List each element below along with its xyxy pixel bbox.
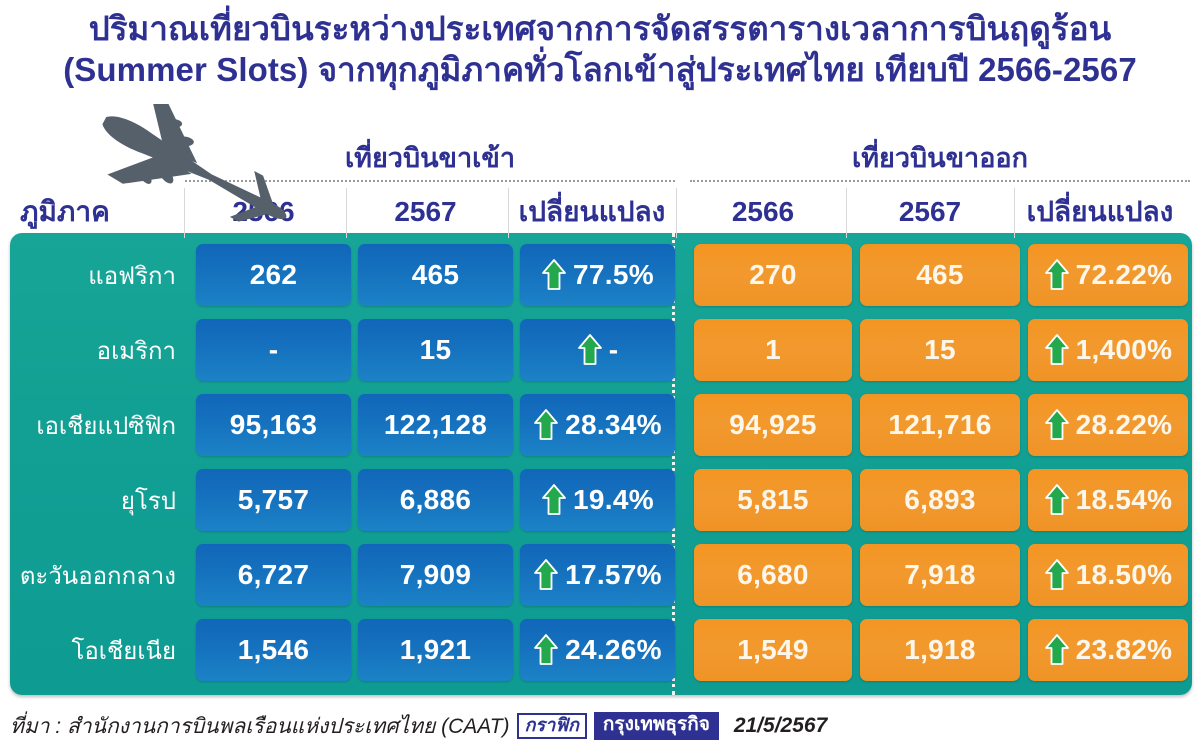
inbound-change-value: - — [609, 334, 619, 366]
cell-inbound-2567: 6,886 — [358, 469, 513, 531]
graphic-credit-label: กราฟิก — [517, 713, 587, 740]
region-label: ตะวันออกกลาง — [10, 540, 186, 610]
title-line-1: ปริมาณเที่ยวบินระหว่างประเทศจากการจัดสรร… — [0, 8, 1200, 49]
outbound-change-value: 1,400% — [1076, 334, 1173, 366]
cell-inbound-2566: 95,163 — [196, 394, 351, 456]
table-row: เอเชียแปซิฟิก95,163122,12828.34%94,92512… — [10, 390, 1192, 460]
arrow-up-icon — [533, 408, 559, 442]
cell-inbound-2567: 465 — [358, 244, 513, 306]
cell-outbound-change: 72.22% — [1028, 244, 1188, 306]
cell-inbound-2567: 7,909 — [358, 544, 513, 606]
page-title: ปริมาณเที่ยวบินระหว่างประเทศจากการจัดสรร… — [0, 8, 1200, 91]
cell-inbound-change: 28.34% — [520, 394, 675, 456]
cell-outbound-2566: 5,815 — [694, 469, 852, 531]
cell-inbound-change: 24.26% — [520, 619, 675, 681]
table-row: ยุโรป5,7576,88619.4%5,8156,89318.54% — [10, 465, 1192, 535]
cell-outbound-2567: 121,716 — [860, 394, 1020, 456]
cell-outbound-2566: 94,925 — [694, 394, 852, 456]
header-vline-5 — [846, 188, 847, 238]
arrow-up-icon — [1044, 333, 1070, 367]
region-label: โอเชียเนีย — [10, 615, 186, 685]
arrow-up-icon — [1044, 258, 1070, 292]
outbound-change-value: 23.82% — [1076, 634, 1173, 666]
arrow-up-icon — [577, 333, 603, 367]
cell-outbound-2566: 1,549 — [694, 619, 852, 681]
cell-outbound-2566: 1 — [694, 319, 852, 381]
column-header-outbound-change: เปลี่ยนแปลง — [1014, 190, 1186, 234]
arrow-up-icon — [533, 633, 559, 667]
inbound-change-value: 77.5% — [573, 259, 654, 291]
column-header-inbound-2566: 2566 — [186, 190, 341, 234]
arrow-up-icon — [1044, 483, 1070, 517]
source-text: ที่มา : สำนักงานการบินพลเรือนแห่งประเทศไ… — [10, 710, 510, 743]
header-divider-outbound — [690, 180, 1190, 182]
cell-outbound-change: 1,400% — [1028, 319, 1188, 381]
cell-inbound-change: 19.4% — [520, 469, 675, 531]
arrow-up-icon — [533, 558, 559, 592]
cell-outbound-change: 18.50% — [1028, 544, 1188, 606]
cell-inbound-2566: - — [196, 319, 351, 381]
arrow-up-icon — [1044, 558, 1070, 592]
cell-outbound-2567: 465 — [860, 244, 1020, 306]
cell-outbound-2567: 15 — [860, 319, 1020, 381]
cell-inbound-2566: 262 — [196, 244, 351, 306]
table-header: เที่ยวบินขาเข้า เที่ยวบินขาออก ภูมิภาค 2… — [0, 130, 1200, 234]
cell-outbound-2567: 1,918 — [860, 619, 1020, 681]
cell-outbound-change: 18.54% — [1028, 469, 1188, 531]
outbound-change-value: 28.22% — [1076, 409, 1173, 441]
cell-outbound-change: 28.22% — [1028, 394, 1188, 456]
region-label: เอเชียแปซิฟิก — [10, 390, 186, 460]
header-vline-4 — [676, 188, 677, 238]
outbound-change-value: 18.54% — [1076, 484, 1173, 516]
header-divider-inbound — [185, 180, 675, 182]
header-vline-2 — [346, 188, 347, 238]
cell-outbound-change: 23.82% — [1028, 619, 1188, 681]
group-header-outbound: เที่ยวบินขาออก — [690, 136, 1190, 179]
region-label: อเมริกา — [10, 315, 186, 385]
table-row: โอเชียเนีย1,5461,92124.26%1,5491,91823.8… — [10, 615, 1192, 685]
region-label: แอฟริกา — [10, 240, 186, 310]
outbound-change-value: 18.50% — [1076, 559, 1173, 591]
cell-outbound-2566: 270 — [694, 244, 852, 306]
column-header-outbound-2566: 2566 — [684, 190, 842, 234]
cell-inbound-2566: 1,546 — [196, 619, 351, 681]
inbound-change-value: 28.34% — [565, 409, 662, 441]
cell-inbound-2566: 5,757 — [196, 469, 351, 531]
table-row: อเมริกา-15-1151,400% — [10, 315, 1192, 385]
cell-inbound-change: - — [520, 319, 675, 381]
cell-inbound-2567: 122,128 — [358, 394, 513, 456]
cell-inbound-change: 17.57% — [520, 544, 675, 606]
table-row: ตะวันออกกลาง6,7277,90917.57%6,6807,91818… — [10, 540, 1192, 610]
outbound-change-value: 72.22% — [1076, 259, 1173, 291]
cell-outbound-2567: 6,893 — [860, 469, 1020, 531]
inbound-change-value: 19.4% — [573, 484, 654, 516]
column-header-inbound-change: เปลี่ยนแปลง — [508, 190, 676, 234]
cell-inbound-2567: 15 — [358, 319, 513, 381]
table-row: แอฟริกา26246577.5%27046572.22% — [10, 240, 1192, 310]
cell-outbound-2566: 6,680 — [694, 544, 852, 606]
title-line-2: (Summer Slots) จากทุกภูมิภาคทั่วโลกเข้าส… — [0, 49, 1200, 90]
inbound-change-value: 17.57% — [565, 559, 662, 591]
column-header-outbound-2567: 2567 — [850, 190, 1010, 234]
footer: ที่มา : สำนักงานการบินพลเรือนแห่งประเทศไ… — [10, 706, 1190, 746]
publish-date: 21/5/2567 — [734, 714, 827, 738]
region-label: ยุโรป — [10, 465, 186, 535]
header-vline-1 — [184, 188, 185, 238]
arrow-up-icon — [1044, 633, 1070, 667]
cell-inbound-2567: 1,921 — [358, 619, 513, 681]
group-header-inbound: เที่ยวบินขาเข้า — [185, 136, 675, 179]
cell-inbound-change: 77.5% — [520, 244, 675, 306]
arrow-up-icon — [541, 258, 567, 292]
cell-inbound-2566: 6,727 — [196, 544, 351, 606]
arrow-up-icon — [541, 483, 567, 517]
inbound-change-value: 24.26% — [565, 634, 662, 666]
publisher-logo: กรุงเทพธุรกิจ — [594, 712, 719, 740]
column-header-region: ภูมิภาค — [6, 190, 190, 234]
table-body: แอฟริกา26246577.5%27046572.22%อเมริกา-15… — [10, 240, 1192, 690]
column-header-inbound-2567: 2567 — [348, 190, 503, 234]
cell-outbound-2567: 7,918 — [860, 544, 1020, 606]
arrow-up-icon — [1044, 408, 1070, 442]
